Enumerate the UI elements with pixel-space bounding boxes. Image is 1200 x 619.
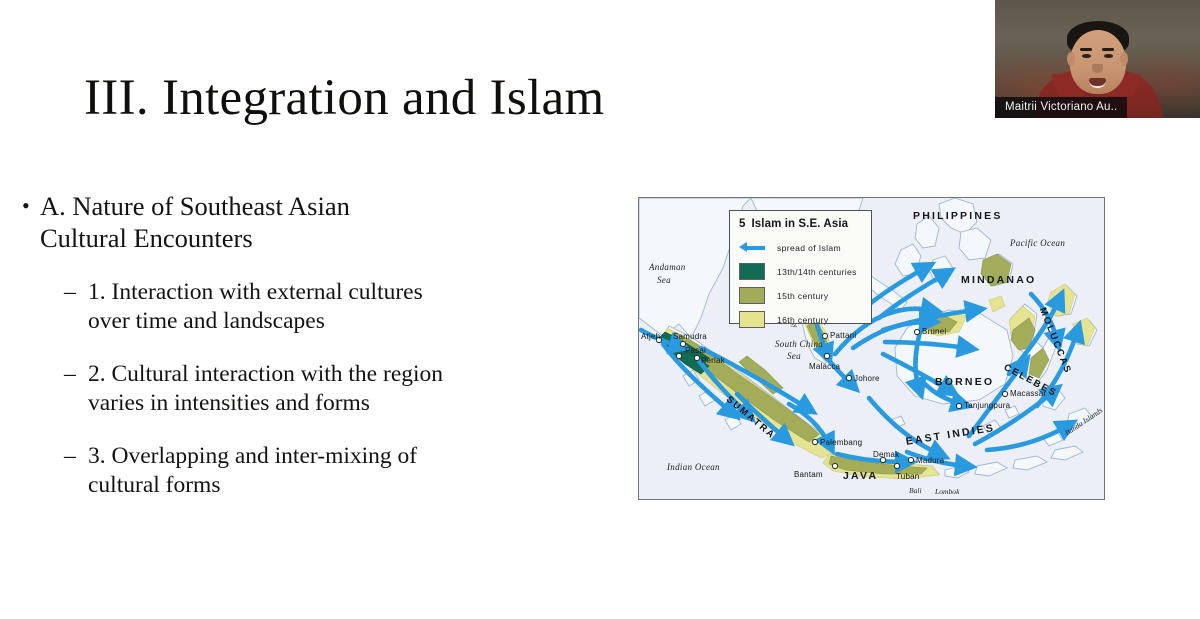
bullet-item-a: • A. Nature of Southeast Asian Cultural … bbox=[12, 190, 612, 254]
webcam-eye-right bbox=[1104, 54, 1113, 58]
bullet-line: varies in intensities and forms bbox=[88, 389, 612, 418]
spread-arrow-icon bbox=[739, 239, 765, 256]
bullet-line: Cultural Encounters bbox=[40, 222, 612, 254]
legend-row-spread: spread of Islam bbox=[739, 237, 863, 258]
webcam-ear-right bbox=[1120, 52, 1128, 66]
webcam-nose bbox=[1092, 64, 1103, 73]
bullet-marker: – bbox=[64, 278, 76, 307]
bullet-marker: • bbox=[22, 190, 30, 222]
legend-label-13-14: 13th/14th centuries bbox=[777, 267, 857, 277]
bullet-line: A. Nature of Southeast Asian bbox=[40, 190, 612, 222]
bullet-marker: – bbox=[64, 360, 76, 389]
bullet-line: 1. Interaction with external cultures bbox=[88, 278, 612, 307]
webcam-eyebrow-left bbox=[1080, 48, 1092, 51]
bullet-marker: – bbox=[64, 442, 76, 471]
legend-swatch-16 bbox=[739, 311, 765, 328]
legend-title-row: 5Islam in S.E. Asia bbox=[739, 218, 863, 230]
legend-label-16: 16th century bbox=[777, 315, 829, 325]
legend-title-text: Islam in S.E. Asia bbox=[752, 218, 849, 230]
legend-row-13-14: 13th/14th centuries bbox=[739, 261, 863, 282]
legend-label-15: 15th century bbox=[777, 291, 829, 301]
bullet-item-2: – 2. Cultural interaction with the regio… bbox=[60, 360, 612, 418]
slide-body: • A. Nature of Southeast Asian Cultural … bbox=[12, 190, 612, 500]
webcam-participant-tile[interactable]: Maitrii Victoriano Au.. bbox=[995, 0, 1200, 118]
legend-label-spread: spread of Islam bbox=[777, 243, 841, 253]
bullet-line: cultural forms bbox=[88, 471, 612, 500]
page-title: III. Integration and Islam bbox=[84, 68, 604, 128]
bullet-line: 3. Overlapping and inter-mixing of bbox=[88, 442, 612, 471]
webcam-eye-left bbox=[1082, 54, 1091, 58]
map-legend: 5Islam in S.E. Asia spread of Islam 13th… bbox=[729, 210, 872, 324]
legend-swatch-13-14 bbox=[739, 263, 765, 280]
map-figure-islam-spread: Andaman Sea South China Sea Pacific Ocea… bbox=[638, 197, 1105, 500]
bullet-line: 2. Cultural interaction with the region bbox=[88, 360, 612, 389]
legend-number: 5 bbox=[739, 218, 746, 230]
bullet-item-3: – 3. Overlapping and inter-mixing of cul… bbox=[60, 442, 612, 500]
legend-row-16: 16th century bbox=[739, 309, 863, 330]
legend-row-15: 15th century bbox=[739, 285, 863, 306]
participant-name-label: Maitrii Victoriano Au.. bbox=[995, 97, 1127, 118]
bullet-item-1: – 1. Interaction with external cultures … bbox=[60, 278, 612, 336]
slide-stage: III. Integration and Islam • A. Nature o… bbox=[0, 0, 1200, 619]
legend-swatch-15 bbox=[739, 287, 765, 304]
bullet-line: over time and landscapes bbox=[88, 307, 612, 336]
webcam-ear-left bbox=[1067, 52, 1075, 66]
webcam-eyebrow-right bbox=[1102, 48, 1114, 51]
